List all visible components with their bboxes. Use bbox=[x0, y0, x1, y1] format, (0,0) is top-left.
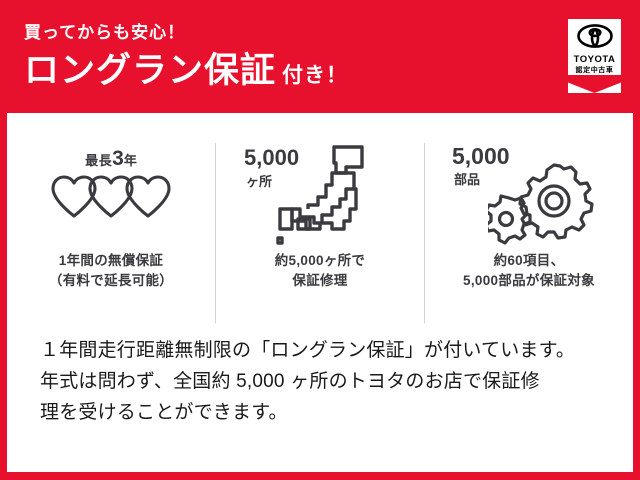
feature-column-service-locations: 5,000 ヶ所 bbox=[215, 143, 424, 323]
toyota-certified-used-car-logo: TOYOTA 認定中古車 bbox=[566, 17, 623, 95]
japan-map-block: 5,000 ヶ所 bbox=[240, 143, 400, 251]
banner-text-group: 買ってからも安心！ ロングラン保証付き！ bbox=[24, 22, 348, 100]
toyota-emblem-icon bbox=[577, 24, 613, 53]
banner-heading-main: ロングラン保証 bbox=[24, 51, 276, 90]
gears-block: 5,000 部品 bbox=[444, 143, 614, 251]
banner-subheading: 買ってからも安心！ bbox=[24, 22, 348, 44]
feature-column-warranty-years: 最長3年 1年間の無償保証 （有料で延長可能 bbox=[7, 143, 215, 323]
feature-column-covered-parts: 5,000 部品 bbox=[424, 143, 633, 323]
icon-area: 5,000 ヶ所 bbox=[216, 143, 424, 251]
badge-suffix: 年 bbox=[124, 153, 137, 168]
banner-heading: ロングラン保証付き！ bbox=[24, 49, 348, 100]
feature-caption-line2: 5,000部品が保証対象 bbox=[463, 271, 595, 291]
badge-longest-3-years: 最長3年 bbox=[7, 147, 215, 171]
badge-prefix: 最長 bbox=[85, 153, 112, 168]
feature-columns: 最長3年 1年間の無償保証 （有料で延長可能 bbox=[7, 143, 633, 323]
feature-caption-line1: 約5,000ヶ所で bbox=[275, 251, 365, 271]
feature-caption: 1年間の無償保証 （有料で延長可能） bbox=[49, 251, 173, 291]
promo-card: 買ってからも安心！ ロングラン保証付き！ TOYOTA 認定中古車 bbox=[0, 0, 640, 480]
logo-red-chevron bbox=[568, 75, 621, 93]
icon-area: 5,000 部品 bbox=[425, 143, 633, 251]
japan-map-icon bbox=[274, 143, 366, 252]
toyota-wordmark: TOYOTA bbox=[574, 54, 616, 65]
feature-caption-line1: 1年間の無償保証 bbox=[49, 251, 173, 271]
icon-area: 最長3年 bbox=[7, 143, 215, 251]
feature-caption-line2: 保証修理 bbox=[275, 271, 365, 291]
badge-number: 3 bbox=[112, 147, 124, 170]
description-line-1: １年間走行距離無制限の「ロングラン保証」が付いています。 bbox=[40, 335, 608, 366]
three-hearts-icon bbox=[50, 173, 172, 224]
gears-icon bbox=[488, 157, 608, 254]
toyota-certified-label: 認定中古車 bbox=[576, 66, 614, 75]
badge-unit: 部品 bbox=[454, 169, 480, 188]
badge-unit: ヶ所 bbox=[246, 171, 272, 190]
description-line-2: 年式は問わず、全国約 5,000 ヶ所のトヨタのお店で保証修 bbox=[40, 366, 608, 397]
content-panel: 最長3年 1年間の無償保証 （有料で延長可能 bbox=[7, 113, 633, 472]
feature-caption: 約60項目、 5,000部品が保証対象 bbox=[463, 251, 595, 291]
description-line-3: 理を受けることができます。 bbox=[40, 397, 608, 428]
feature-caption-line1: 約60項目、 bbox=[463, 251, 595, 271]
feature-caption: 約5,000ヶ所で 保証修理 bbox=[275, 251, 365, 291]
banner-heading-suffix: 付き！ bbox=[282, 64, 348, 87]
feature-caption-line2: （有料で延長可能） bbox=[49, 271, 173, 291]
description-paragraph: １年間走行距離無制限の「ロングラン保証」が付いています。 年式は問わず、全国約 … bbox=[40, 335, 608, 428]
header-banner: 買ってからも安心！ ロングラン保証付き！ TOYOTA 認定中古車 bbox=[0, 0, 640, 113]
